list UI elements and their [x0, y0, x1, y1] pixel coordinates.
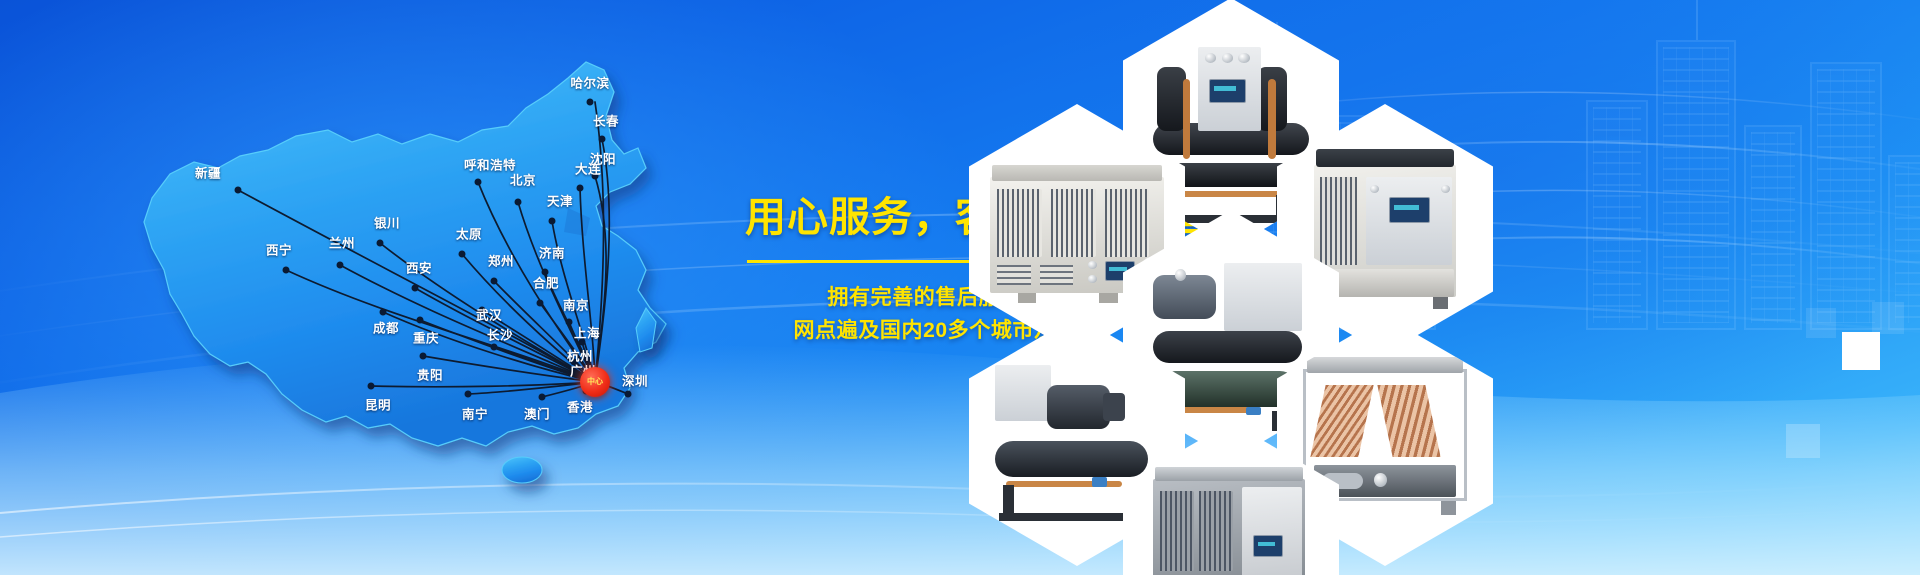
map-city-label: 新疆	[195, 163, 221, 182]
map-city-dot[interactable]	[539, 394, 546, 401]
map-city-label: 西宁	[266, 240, 292, 259]
map-city-label: 贵阳	[417, 365, 443, 384]
map-city-label: 武汉	[476, 305, 502, 324]
map-city-dot[interactable]	[283, 267, 290, 274]
skyline-silhouette-right	[1580, 0, 1920, 330]
map-city-dot[interactable]	[235, 187, 242, 194]
map-city-dot[interactable]	[412, 285, 419, 292]
map-city-dot[interactable]	[587, 99, 594, 106]
map-city-dot[interactable]	[368, 383, 375, 390]
map-city-dot[interactable]	[491, 278, 498, 285]
map-city-label: 大连	[575, 159, 601, 178]
map-city-dot[interactable]	[417, 317, 424, 324]
map-city-label: 澳门	[524, 404, 550, 423]
decor-square-faint-a	[1872, 302, 1904, 334]
map-hub-marker[interactable]: 中心	[580, 367, 610, 397]
map-city-dot[interactable]	[625, 391, 632, 398]
map-city-label: 长沙	[487, 325, 513, 344]
map-city-label: 成都	[373, 318, 399, 337]
map-city-label: 银川	[374, 213, 400, 232]
map-city-label: 南宁	[462, 404, 488, 423]
promo-banner: 新疆哈尔滨长春沈阳呼和浩特北京大连天津银川太原兰州西宁西安郑州济南合肥南京武汉上…	[0, 0, 1920, 575]
map-city-dot[interactable]	[515, 199, 522, 206]
map-city-dot[interactable]	[459, 251, 466, 258]
map-city-label: 合肥	[533, 273, 559, 292]
map-city-label: 南京	[563, 295, 589, 314]
map-city-label: 太原	[456, 224, 482, 243]
map-city-label: 兰州	[329, 233, 355, 252]
map-city-label: 香港	[567, 397, 593, 416]
map-city-label: 昆明	[365, 395, 391, 414]
map-city-dot[interactable]	[599, 136, 606, 143]
map-city-label: 济南	[539, 243, 565, 262]
map-city-dot[interactable]	[465, 391, 472, 398]
map-city-label: 呼和浩特	[464, 155, 516, 174]
map-city-dot[interactable]	[537, 300, 544, 307]
decor-square-faint-b	[1806, 308, 1836, 338]
map-city-label: 上海	[574, 323, 600, 342]
map-city-dot[interactable]	[377, 240, 384, 247]
map-city-label: 天津	[547, 191, 573, 210]
map-city-label: 北京	[510, 170, 536, 189]
map-city-dot[interactable]	[577, 185, 584, 192]
map-city-dot[interactable]	[420, 353, 427, 360]
map-city-label: 哈尔滨	[570, 73, 609, 92]
decor-square-solid	[1842, 332, 1880, 370]
map-city-label: 郑州	[488, 251, 514, 270]
map-city-label: 重庆	[413, 328, 439, 347]
map-hub-label: 中心	[587, 378, 603, 386]
map-svg	[90, 22, 710, 552]
map-city-label: 长春	[593, 111, 619, 130]
map-city-dot[interactable]	[566, 319, 573, 326]
map-city-dot[interactable]	[380, 309, 387, 316]
product-hexagon-cluster	[965, 0, 1525, 575]
china-distribution-map: 新疆哈尔滨长春沈阳呼和浩特北京大连天津银川太原兰州西宁西安郑州济南合肥南京武汉上…	[90, 22, 710, 552]
map-city-dot[interactable]	[337, 262, 344, 269]
map-city-label: 西安	[406, 258, 432, 277]
map-city-dot[interactable]	[491, 344, 498, 351]
map-city-dot[interactable]	[475, 179, 482, 186]
map-city-dot[interactable]	[549, 218, 556, 225]
map-city-label: 深圳	[622, 371, 648, 390]
decor-square-ghost	[1786, 424, 1820, 458]
